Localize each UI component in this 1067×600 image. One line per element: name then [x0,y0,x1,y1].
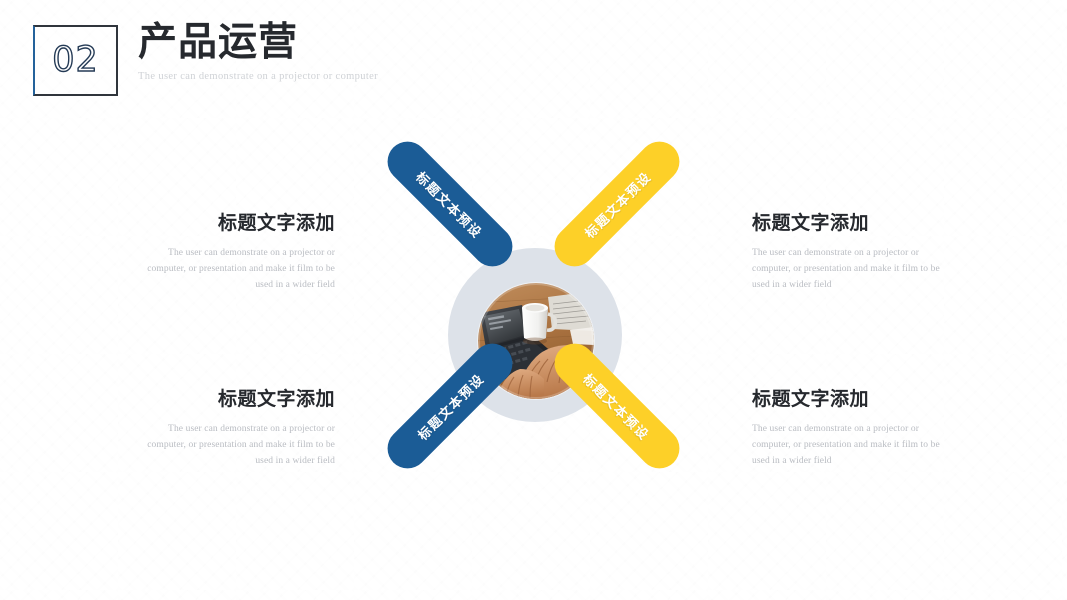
slide-header: 02 产品运营 The user can demonstrate on a pr… [0,0,1067,120]
title-block: 产品运营 The user can demonstrate on a proje… [138,22,378,82]
pill-label-top-right: 标题文本预设 [580,167,655,242]
pill-banner-top-right[interactable]: 标题文本预设 [546,133,687,274]
page-subtitle: The user can demonstrate on a projector … [138,71,378,82]
text-block-title: 标题文字添加 [145,212,335,236]
text-block-body: The user can demonstrate on a projector … [752,421,942,470]
text-block-bottom-left: 标题文字添加 The user can demonstrate on a pro… [145,388,335,470]
text-block-body: The user can demonstrate on a projector … [145,421,335,470]
text-block-title: 标题文字添加 [752,212,942,236]
section-number-box: 02 [33,25,118,96]
pill-label-bottom-right: 标题文本预设 [580,369,655,444]
text-block-top-left: 标题文字添加 The user can demonstrate on a pro… [145,212,335,294]
pill-banner-top-left[interactable]: 标题文本预设 [379,133,520,274]
section-number: 02 [52,43,99,78]
text-block-top-right: 标题文字添加 The user can demonstrate on a pro… [752,212,942,294]
text-block-body: The user can demonstrate on a projector … [752,245,942,294]
page-title: 产品运营 [138,22,378,65]
text-block-body: The user can demonstrate on a projector … [145,245,335,294]
text-block-bottom-right: 标题文字添加 The user can demonstrate on a pro… [752,388,942,470]
text-block-title: 标题文字添加 [752,388,942,412]
text-block-title: 标题文字添加 [145,388,335,412]
pill-label-bottom-left: 标题文本预设 [413,369,488,444]
pill-label-top-left: 标题文本预设 [413,167,488,242]
